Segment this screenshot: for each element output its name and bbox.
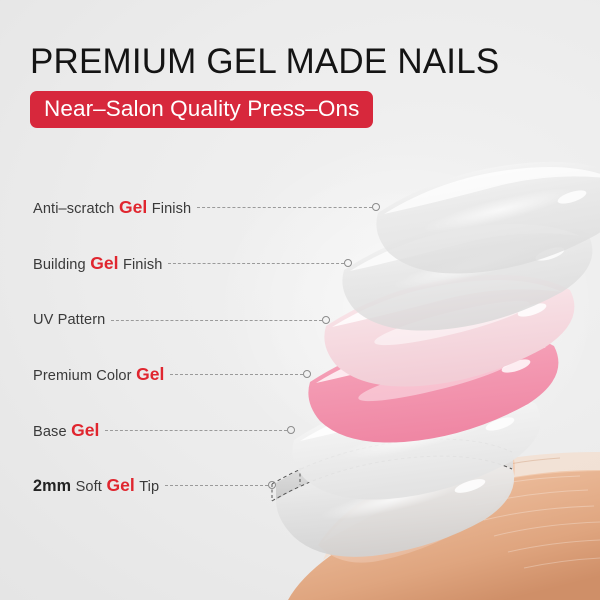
label-word: Tip (139, 479, 159, 495)
label-word: Gel (119, 197, 147, 218)
label-word: Base (33, 424, 67, 440)
leader-endpoint-base-gel (287, 426, 295, 434)
leader-endpoint-premium-color-gel (303, 370, 311, 378)
label-word: Gel (136, 364, 164, 385)
leader-line-anti-scratch-gel-finish (197, 207, 372, 209)
label-word: Premium Color (33, 368, 132, 384)
layer-label-text: Anti–scratchGelFinish (33, 197, 191, 218)
leader-line-building-gel-finish (168, 263, 344, 265)
layer-label-building-gel-finish: BuildingGelFinish (33, 252, 162, 274)
leader-line-base-gel (105, 430, 287, 432)
leader-line-soft-gel-tip (165, 485, 268, 487)
label-word: 2mm (33, 477, 71, 496)
layer-label-text: BaseGel (33, 420, 99, 441)
layer-label-list: Anti–scratchGelFinishBuildingGelFinishUV… (0, 0, 600, 600)
leader-endpoint-soft-gel-tip (268, 481, 276, 489)
layer-label-base-gel: BaseGel (33, 419, 99, 441)
leader-endpoint-uv-pattern (322, 316, 330, 324)
label-word: Finish (123, 257, 163, 273)
layer-label-text: UV Pattern (33, 312, 105, 328)
leader-line-uv-pattern (111, 320, 322, 322)
product-infographic: PREMIUM GEL MADE NAILS Near–Salon Qualit… (0, 0, 600, 600)
leader-endpoint-building-gel-finish (344, 259, 352, 267)
label-word: UV Pattern (33, 312, 105, 328)
layer-label-text: 2mmSoftGelTip (33, 475, 159, 496)
layer-label-text: BuildingGelFinish (33, 253, 162, 274)
label-word: Building (33, 257, 86, 273)
layer-label-premium-color-gel: Premium ColorGel (33, 363, 164, 385)
label-word: Gel (71, 420, 99, 441)
layer-label-uv-pattern: UV Pattern (33, 309, 105, 331)
leader-line-premium-color-gel (170, 374, 303, 376)
layer-label-soft-gel-tip: 2mmSoftGelTip (33, 474, 159, 496)
leader-endpoint-anti-scratch-gel-finish (372, 203, 380, 211)
label-word: Anti–scratch (33, 201, 115, 217)
layer-label-text: Premium ColorGel (33, 364, 164, 385)
layer-label-anti-scratch-gel-finish: Anti–scratchGelFinish (33, 196, 191, 218)
label-word: Gel (90, 253, 118, 274)
label-word: Soft (76, 479, 102, 495)
label-word: Gel (106, 475, 134, 496)
label-word: Finish (152, 201, 192, 217)
